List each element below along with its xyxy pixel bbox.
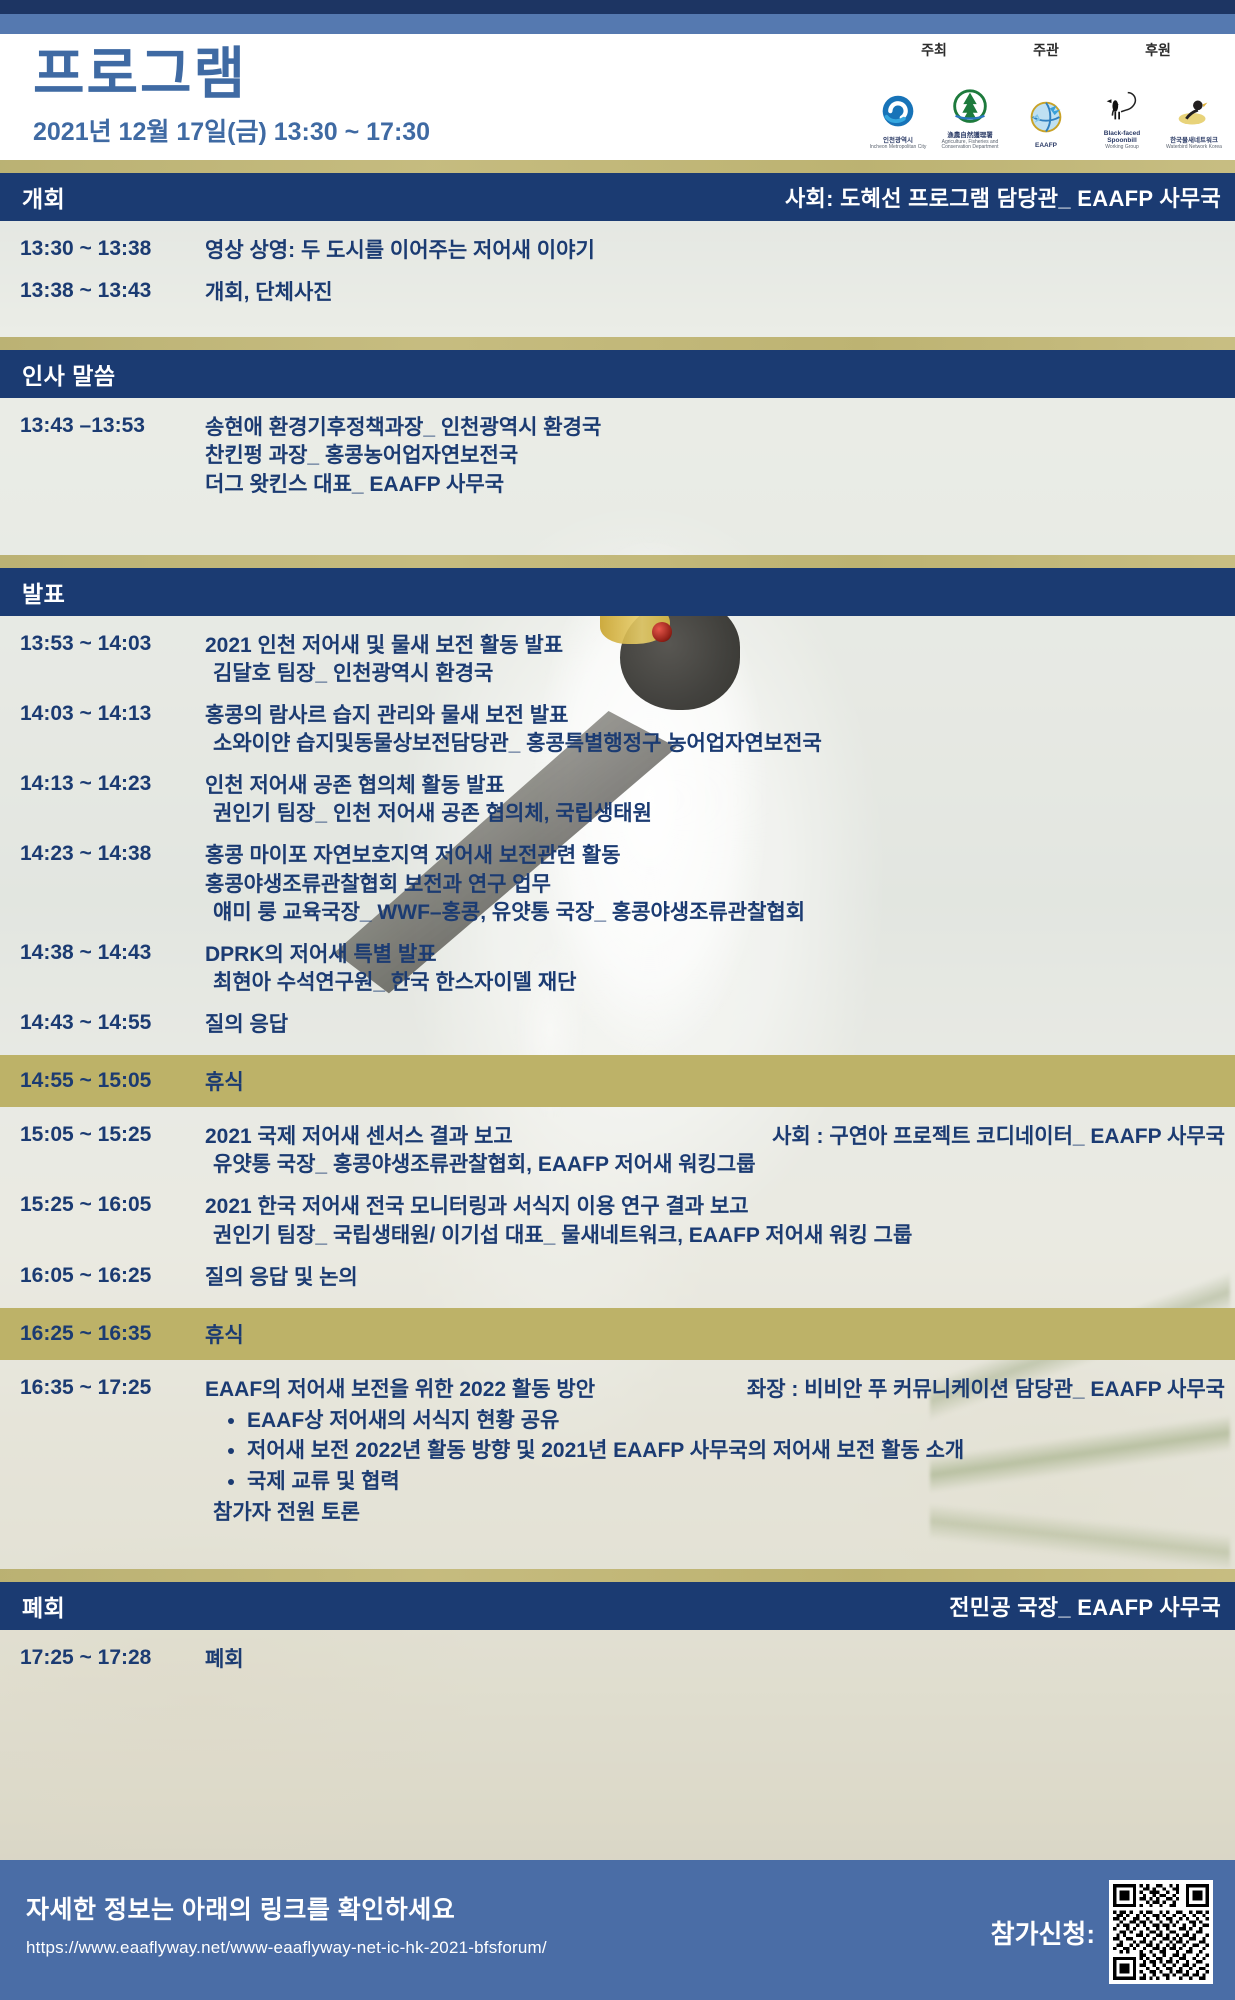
row-speaker: 권인기 팀장_ 인천 저어새 공존 협의체, 국립생태원 <box>205 800 1225 828</box>
schedule-row: 14:23 ~ 14:38 홍콩 마이포 자연보호지역 저어새 보전관련 활동 … <box>0 835 1235 933</box>
page-title: 프로그램 <box>33 46 430 102</box>
row-line: 송현애 환경기후정책과장_ 인천광역시 환경국 <box>205 414 1225 442</box>
row-body: 영상 상영: 두 도시를 이어주는 저어새 이야기 <box>205 237 1235 265</box>
row-line-with-chair: EAAF의 저어새 보전을 위한 2022 활동 방안 좌장 : 비비안 푸 커… <box>205 1376 1225 1404</box>
logo-group-sponsor: 후원 Black-faced Spoonbill Working Group <box>1089 40 1227 150</box>
row-body: 홍콩의 람사르 습지 관리와 물새 보전 발표 소와이얀 습지및동물상보전담당관… <box>205 702 1235 758</box>
section-rows-presentations-3: 16:35 ~ 17:25 EAAF의 저어새 보전을 위한 2022 활동 방… <box>0 1360 1235 1544</box>
row-time: 14:38 ~ 14:43 <box>0 941 205 965</box>
footer-info: 자세한 정보는 아래의 링크를 확인하세요 https://www.eaafly… <box>26 1890 547 1958</box>
section-title-presentations: 발표 <box>22 575 65 609</box>
row-line: 영상 상영: 두 도시를 이어주는 저어새 이야기 <box>205 237 1225 265</box>
row-time: 13:53 ~ 14:03 <box>0 632 205 656</box>
eaafp-logo-caption: EAAFP <box>1035 143 1057 150</box>
logo-group-host: 주최 인천광역시 Incheon Metropolitan City <box>865 40 1003 150</box>
row-chair: 사회 : 구연아 프로젝트 코디네이터_ EAAFP 사무국 <box>772 1123 1225 1151</box>
row-body: 인천 저어새 공존 협의체 활동 발표 권인기 팀장_ 인천 저어새 공존 협의… <box>205 772 1235 828</box>
row-body: 2021 국제 저어새 센서스 결과 보고 사회 : 구연아 프로젝트 코디네이… <box>205 1123 1235 1179</box>
schedule-row: 16:05 ~ 16:25 질의 응답 및 논의 <box>0 1257 1235 1308</box>
waterbird-icon <box>1171 90 1217 136</box>
row-line: 2021 한국 저어새 전국 모니터링과 서식지 이용 연구 결과 보고 <box>205 1193 1225 1221</box>
row-time: 17:25 ~ 17:28 <box>0 1646 205 1670</box>
section-title-greetings: 인사 말씀 <box>22 357 116 391</box>
program-schedule: 개회 사회: 도혜선 프로그램 담당관_ EAAFP 사무국 13:30 ~ 1… <box>0 160 1235 1690</box>
row-speaker: 유얏통 국장_ 홍콩야생조류관찰협회, EAAFP 저어새 워킹그룹 <box>205 1151 1225 1179</box>
schedule-row: 13:53 ~ 14:03 2021 인천 저어새 및 물새 보전 활동 발표 … <box>0 616 1235 695</box>
schedule-row: 13:43 –13:53 송현애 환경기후정책과장_ 인천광역시 환경국 찬킨펑… <box>0 398 1235 514</box>
pine-tree-icon <box>947 85 993 131</box>
row-line: 홍콩야생조류관찰협회 보전과 연구 업무 <box>205 871 1225 899</box>
logo-row-sponsor: Black-faced Spoonbill Working Group 한국물새… <box>1089 64 1227 150</box>
footer-link[interactable]: https://www.eaaflyway.net/www-eaaflyway-… <box>26 1938 547 1958</box>
section-divider-greetings <box>0 337 1235 350</box>
section-title-closing: 폐회 <box>22 1589 65 1623</box>
bullet-item: 국제 교류 및 협력 <box>247 1467 1225 1497</box>
section-rows-closing: 17:25 ~ 17:28 폐회 <box>0 1630 1235 1690</box>
incheon-swirl-icon <box>875 90 921 136</box>
row-line: 폐회 <box>205 1646 1225 1674</box>
row-line: 개회, 단체사진 <box>205 279 1225 307</box>
row-line: 2021 국제 저어새 센서스 결과 보고 <box>205 1123 513 1151</box>
schedule-row: 15:05 ~ 15:25 2021 국제 저어새 센서스 결과 보고 사회 :… <box>0 1107 1235 1186</box>
section-divider-closing <box>0 1569 1235 1582</box>
section-chair-closing: 전민공 국장_ EAAFP 사무국 <box>949 1590 1221 1622</box>
logo-groups: 주최 인천광역시 Incheon Metropolitan City <box>865 40 1227 150</box>
section-rows-opening: 13:30 ~ 13:38 영상 상영: 두 도시를 이어주는 저어새 이야기 … <box>0 221 1235 323</box>
row-time: 13:43 –13:53 <box>0 414 205 438</box>
waterbird-network-korea-logo: 한국물새네트워크 Waterbird Network Korea <box>1161 64 1227 150</box>
break-label: 휴식 <box>205 1066 244 1096</box>
bfswg-logo-caption: Black-faced Spoonbill <box>1089 131 1155 145</box>
logo-group-label-host: 주최 <box>921 40 947 60</box>
black-faced-spoonbill-working-group-logo: Black-faced Spoonbill Working Group <box>1089 64 1155 150</box>
row-line: 홍콩 마이포 자연보호지역 저어새 보전관련 활동 <box>205 842 1225 870</box>
spacer <box>0 515 1235 555</box>
row-body: DPRK의 저어새 특별 발표 최현아 수석연구원_ 한국 한스자이델 재단 <box>205 941 1235 997</box>
break-time: 16:25 ~ 16:35 <box>0 1322 205 1346</box>
row-bullet-list: EAAF상 저어새의 서식지 현황 공유 저어새 보전 2022년 활동 방향 … <box>205 1406 1225 1497</box>
schedule-row: 13:38 ~ 13:43 개회, 단체사진 <box>0 272 1235 323</box>
wnk-logo-caption-en: Waterbird Network Korea <box>1166 145 1222 150</box>
row-body: 2021 한국 저어새 전국 모니터링과 서식지 이용 연구 결과 보고 권인기… <box>205 1193 1235 1249</box>
afcd-hong-kong-logo: 漁農自然護理署 Agriculture, Fisheries and Conse… <box>937 64 1003 150</box>
row-time: 16:05 ~ 16:25 <box>0 1264 205 1288</box>
row-tail: 참가자 전원 토론 <box>205 1499 1225 1527</box>
row-speaker: 김달호 팀장_ 인천광역시 환경국 <box>205 660 1225 688</box>
incheon-logo-caption-en: Incheon Metropolitan City <box>870 145 927 150</box>
row-speaker: 권인기 팀장_ 국립생태원/ 이기섭 대표_ 물새네트워크, EAAFP 저어새… <box>205 1222 1225 1250</box>
row-chair: 좌장 : 비비안 푸 커뮤니케이션 담당관_ EAAFP 사무국 <box>747 1376 1225 1404</box>
section-rows-greetings: 13:43 –13:53 송현애 환경기후정책과장_ 인천광역시 환경국 찬킨펑… <box>0 398 1235 514</box>
spacer <box>0 323 1235 337</box>
break-label: 휴식 <box>205 1319 244 1349</box>
row-time: 13:30 ~ 13:38 <box>0 237 205 261</box>
section-header-closing: 폐회 전민공 국장_ EAAFP 사무국 <box>0 1582 1235 1630</box>
schedule-row: 17:25 ~ 17:28 폐회 <box>0 1630 1235 1690</box>
section-rows-presentations-2: 15:05 ~ 15:25 2021 국제 저어새 센서스 결과 보고 사회 :… <box>0 1107 1235 1308</box>
logo-group-label-organizer: 주관 <box>1033 40 1059 60</box>
apply-label: 참가신청: <box>991 1914 1095 1951</box>
event-datetime: 2021년 12월 17일(금) 13:30 ~ 17:30 <box>33 112 430 148</box>
row-body: 송현애 환경기후정책과장_ 인천광역시 환경국 찬킨펑 과장_ 홍콩농어업자연보… <box>205 414 1235 498</box>
title-block: 프로그램 2021년 12월 17일(금) 13:30 ~ 17:30 <box>33 46 430 148</box>
registration-qr-code[interactable] <box>1109 1880 1213 1984</box>
row-body: 개회, 단체사진 <box>205 279 1235 307</box>
row-time: 16:35 ~ 17:25 <box>0 1376 205 1400</box>
schedule-row: 16:35 ~ 17:25 EAAF의 저어새 보전을 위한 2022 활동 방… <box>0 1360 1235 1544</box>
section-rows-presentations: 13:53 ~ 14:03 2021 인천 저어새 및 물새 보전 활동 발표 … <box>0 616 1235 1056</box>
top-accent-bar-dark <box>0 0 1235 14</box>
row-line: 질의 응답 <box>205 1011 1225 1039</box>
row-body: EAAF의 저어새 보전을 위한 2022 활동 방안 좌장 : 비비안 푸 커… <box>205 1376 1235 1528</box>
row-body: 질의 응답 <box>205 1011 1235 1039</box>
footer-registration: 참가신청: <box>991 1880 1213 1984</box>
spoonbill-outline-icon <box>1099 83 1145 129</box>
schedule-row: 13:30 ~ 13:38 영상 상영: 두 도시를 이어주는 저어새 이야기 <box>0 221 1235 272</box>
row-time: 15:05 ~ 15:25 <box>0 1123 205 1147</box>
eaafp-globe-birds-icon <box>1023 95 1069 141</box>
section-header-presentations: 발표 <box>0 568 1235 616</box>
bullet-item: 저어새 보전 2022년 활동 방향 및 2021년 EAAFP 사무국의 저어… <box>247 1436 1225 1466</box>
schedule-row: 15:25 ~ 16:05 2021 한국 저어새 전국 모니터링과 서식지 이… <box>0 1186 1235 1256</box>
row-time: 14:43 ~ 14:55 <box>0 1011 205 1035</box>
row-time: 14:23 ~ 14:38 <box>0 842 205 866</box>
row-line: 인천 저어새 공존 협의체 활동 발표 <box>205 772 1225 800</box>
logo-group-organizer: 주관 EAAFP <box>1013 40 1079 150</box>
poster-header: 프로그램 2021년 12월 17일(금) 13:30 ~ 17:30 주최 인… <box>0 34 1235 160</box>
break-row-2: 16:25 ~ 16:35 휴식 <box>0 1308 1235 1360</box>
break-row-1: 14:55 ~ 15:05 휴식 <box>0 1055 1235 1107</box>
row-time: 13:38 ~ 13:43 <box>0 279 205 303</box>
logo-row-host: 인천광역시 Incheon Metropolitan City 漁農自然護理署 … <box>865 64 1003 150</box>
section-header-greetings: 인사 말씀 <box>0 350 1235 398</box>
top-accent-bar-mid <box>0 14 1235 34</box>
bfswg-logo-caption-2: Working Group <box>1105 145 1139 150</box>
row-body: 홍콩 마이포 자연보호지역 저어새 보전관련 활동 홍콩야생조류관찰협회 보전과… <box>205 842 1235 926</box>
row-body: 질의 응답 및 논의 <box>205 1264 1235 1292</box>
logo-group-label-sponsor: 후원 <box>1145 40 1171 60</box>
footer-heading: 자세한 정보는 아래의 링크를 확인하세요 <box>26 1890 547 1926</box>
logo-row-organizer: EAAFP <box>1013 64 1079 150</box>
incheon-metropolitan-city-logo: 인천광역시 Incheon Metropolitan City <box>865 64 931 150</box>
section-chair-opening: 사회: 도혜선 프로그램 담당관_ EAAFP 사무국 <box>785 181 1221 213</box>
spacer <box>0 1543 1235 1569</box>
row-speaker: 최현아 수석연구원_ 한국 한스자이델 재단 <box>205 969 1225 997</box>
row-time: 15:25 ~ 16:05 <box>0 1193 205 1217</box>
row-time: 14:03 ~ 14:13 <box>0 702 205 726</box>
section-divider-presentations <box>0 555 1235 568</box>
schedule-row: 14:38 ~ 14:43 DPRK의 저어새 특별 발표 최현아 수석연구원_… <box>0 934 1235 1004</box>
row-line: DPRK의 저어새 특별 발표 <box>205 941 1225 969</box>
row-line: 찬킨펑 과장_ 홍콩농어업자연보전국 <box>205 442 1225 470</box>
row-speaker: 얘미 룽 교육국장_ WWF–홍콩, 유얏통 국장_ 홍콩야생조류관찰협회 <box>205 899 1225 927</box>
afcd-logo-caption-en: Agriculture, Fisheries and Conservation … <box>937 140 1003 151</box>
row-line: 질의 응답 및 논의 <box>205 1264 1225 1292</box>
row-time: 14:13 ~ 14:23 <box>0 772 205 796</box>
program-poster: 프로그램 2021년 12월 17일(금) 13:30 ~ 17:30 주최 인… <box>0 0 1235 2000</box>
row-line: 2021 인천 저어새 및 물새 보전 활동 발표 <box>205 632 1225 660</box>
row-line: 더그 왓킨스 대표_ EAAFP 사무국 <box>205 471 1225 499</box>
qr-code-icon <box>1113 1884 1209 1980</box>
row-line: EAAF의 저어새 보전을 위한 2022 활동 방안 <box>205 1376 595 1404</box>
schedule-row: 14:43 ~ 14:55 질의 응답 <box>0 1004 1235 1055</box>
section-divider-opening <box>0 160 1235 173</box>
bullet-item: EAAF상 저어새의 서식지 현황 공유 <box>247 1406 1225 1436</box>
break-time: 14:55 ~ 15:05 <box>0 1069 205 1093</box>
row-speaker: 소와이얀 습지및동물상보전담당관_ 홍콩특별행정구 농어업자연보전국 <box>205 730 1225 758</box>
section-header-opening: 개회 사회: 도혜선 프로그램 담당관_ EAAFP 사무국 <box>0 173 1235 221</box>
row-body: 2021 인천 저어새 및 물새 보전 활동 발표 김달호 팀장_ 인천광역시 … <box>205 632 1235 688</box>
row-line-with-chair: 2021 국제 저어새 센서스 결과 보고 사회 : 구연아 프로젝트 코디네이… <box>205 1123 1225 1151</box>
schedule-row: 14:13 ~ 14:23 인천 저어새 공존 협의체 활동 발표 권인기 팀장… <box>0 765 1235 835</box>
row-line: 홍콩의 람사르 습지 관리와 물새 보전 발표 <box>205 702 1225 730</box>
schedule-row: 14:03 ~ 14:13 홍콩의 람사르 습지 관리와 물새 보전 발표 소와… <box>0 695 1235 765</box>
row-body: 폐회 <box>205 1646 1235 1674</box>
poster-footer: 자세한 정보는 아래의 링크를 확인하세요 https://www.eaafly… <box>0 1860 1235 2000</box>
section-title-opening: 개회 <box>22 180 65 214</box>
eaafp-logo: EAAFP <box>1013 64 1079 150</box>
